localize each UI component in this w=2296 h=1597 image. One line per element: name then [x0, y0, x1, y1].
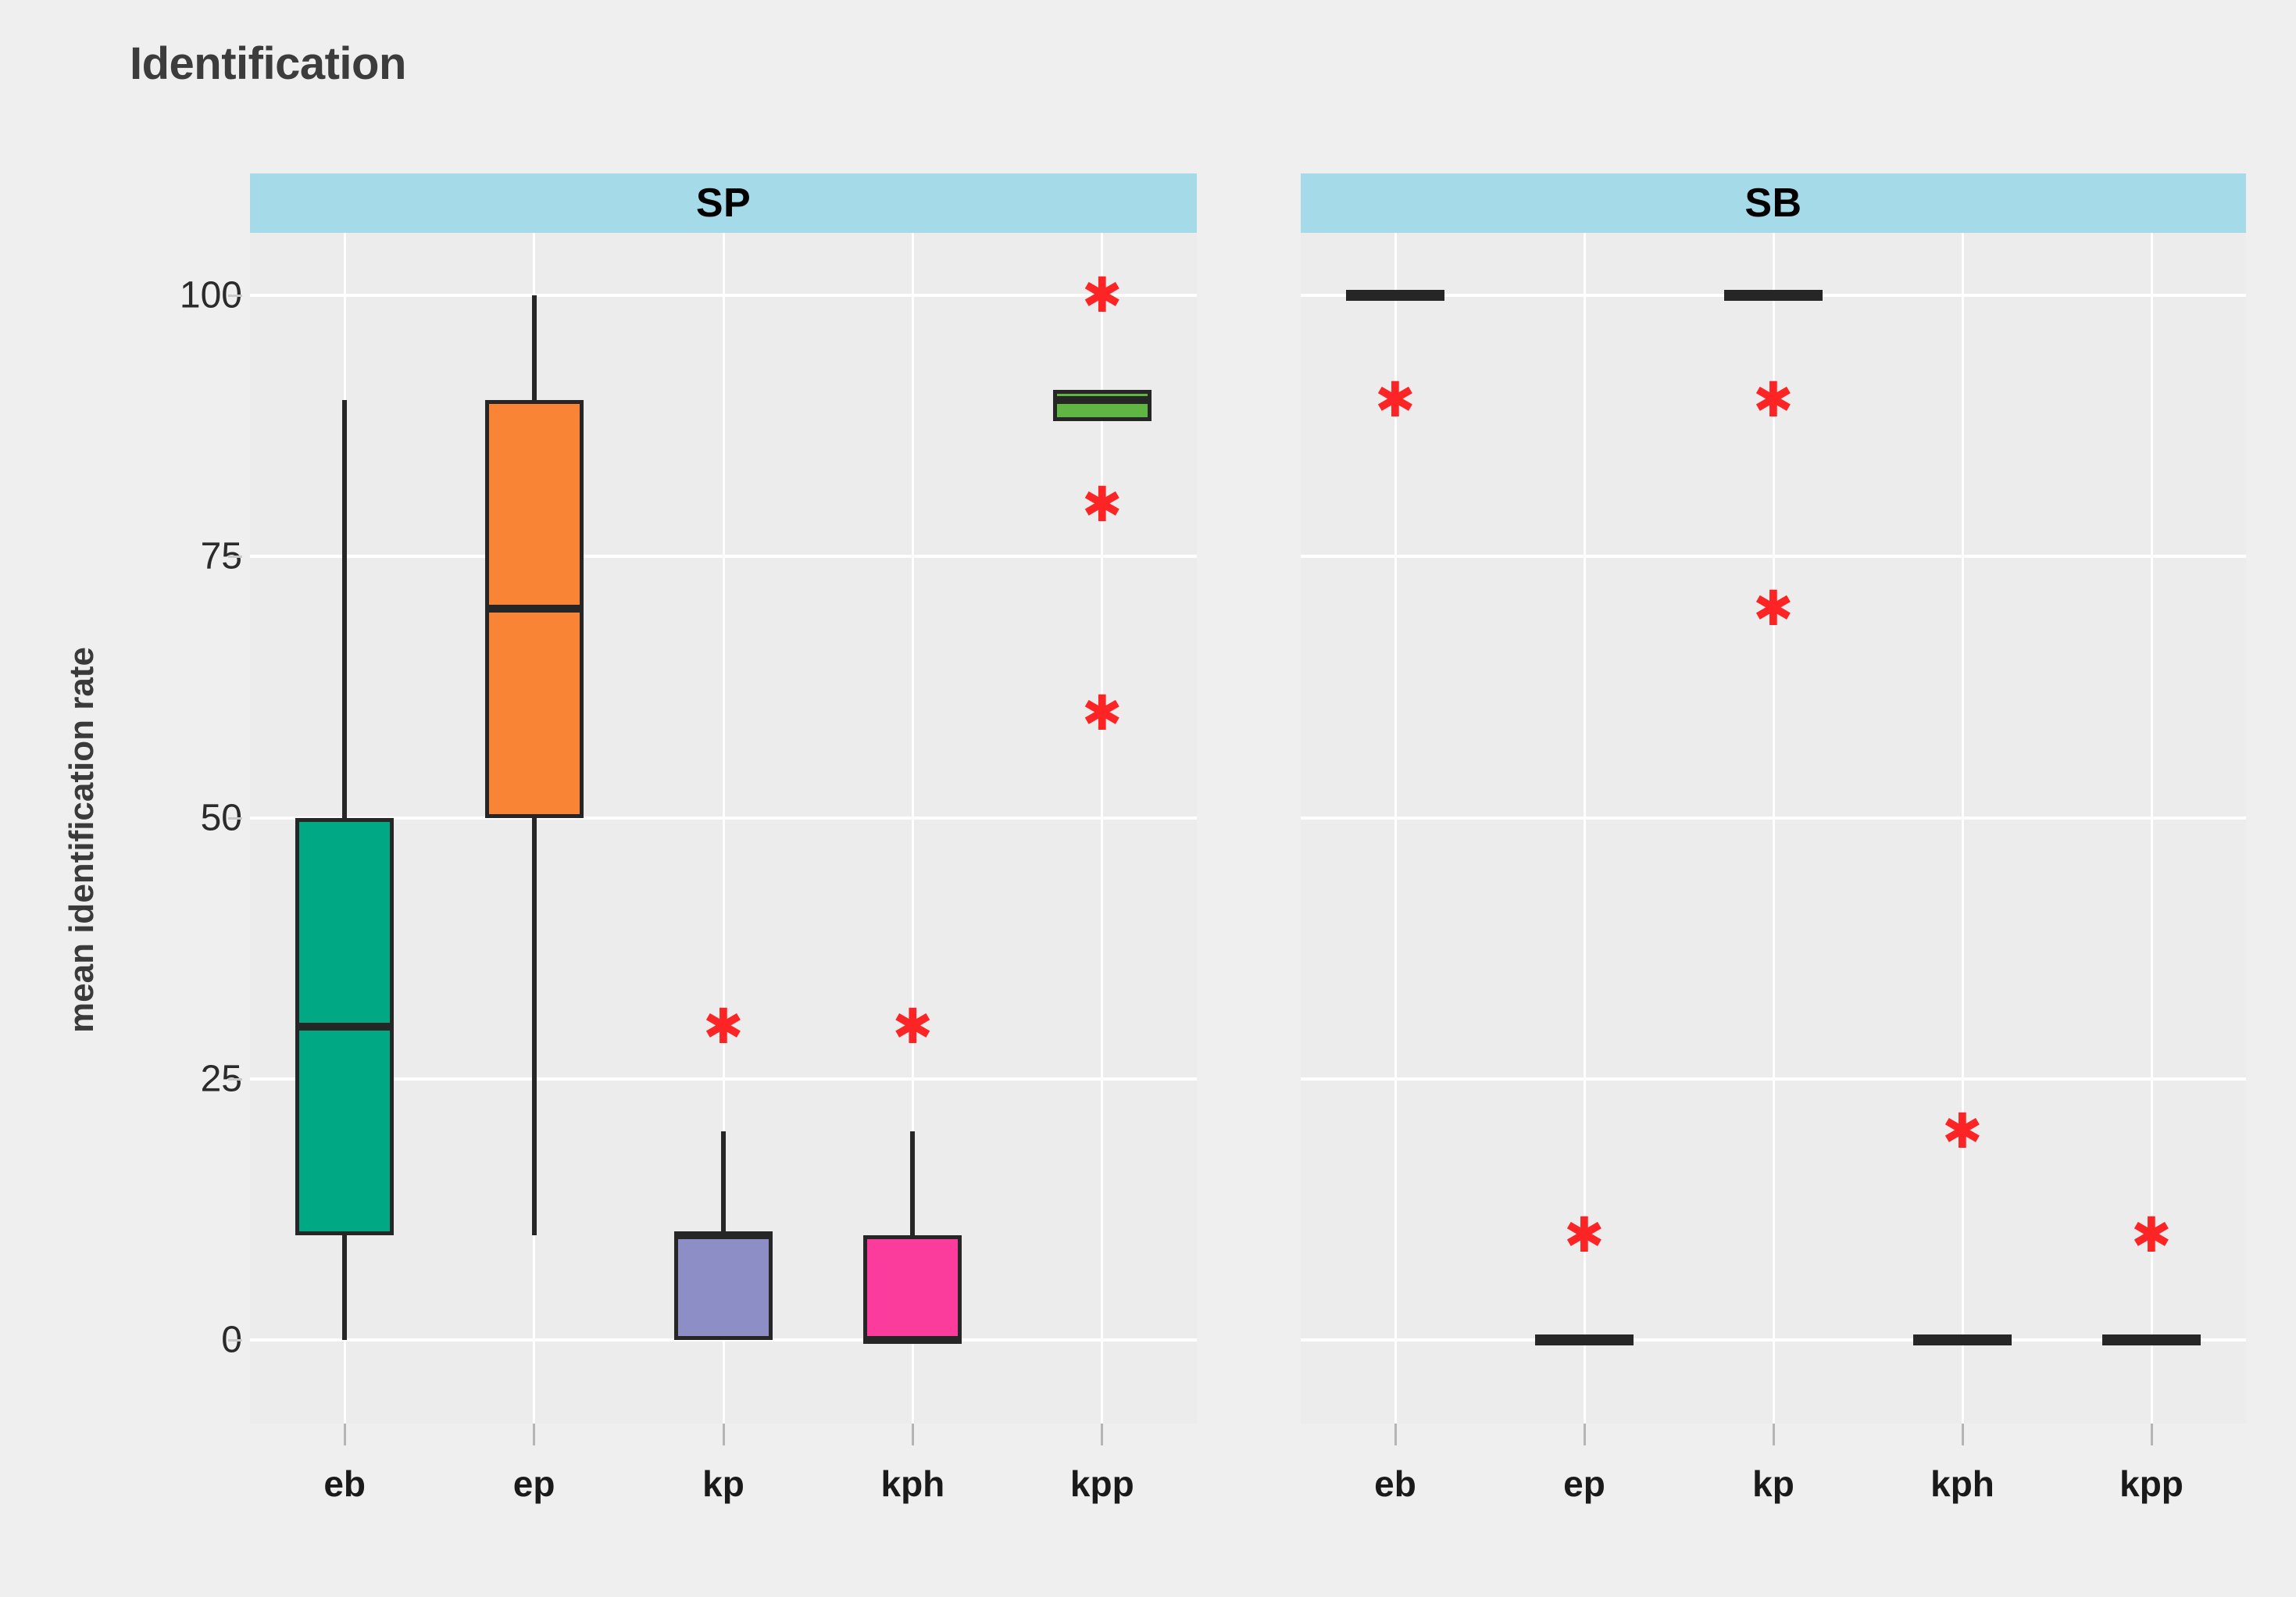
x-tick-label-kpp: kpp	[1070, 1463, 1134, 1505]
y-tick-mark	[228, 1339, 242, 1342]
box-kpp	[1053, 390, 1152, 421]
x-tick-label-kp: kp	[1752, 1463, 1794, 1505]
plot-area-sp: ✱✱✱✱✱	[250, 233, 1197, 1424]
median-line	[295, 1023, 394, 1031]
box-kp	[674, 1235, 773, 1340]
y-tick-mark	[228, 556, 242, 558]
x-tick-mark	[1584, 1424, 1586, 1445]
x-tick-mark	[1773, 1424, 1775, 1445]
facet-panel-sb: SB ✱✱✱✱✱✱ ebepkpkphkpp	[1301, 0, 2246, 1597]
box-ep	[1535, 1334, 1634, 1345]
median-line	[863, 1336, 962, 1344]
whisker-upper	[532, 295, 537, 400]
plot-area-sb: ✱✱✱✱✱✱	[1301, 233, 2246, 1424]
x-tick-label-kph: kph	[1930, 1463, 1994, 1505]
x-tick-mark	[2151, 1424, 2153, 1445]
median-line	[1053, 396, 1152, 404]
x-tick-mark	[344, 1424, 346, 1445]
y-axis-ticks: 0255075100	[125, 0, 242, 1597]
gridline-vertical	[1962, 233, 1964, 1424]
whisker-lower	[342, 1235, 347, 1340]
box-eb	[1346, 290, 1444, 301]
x-tick-mark	[533, 1424, 535, 1445]
x-tick-mark	[912, 1424, 914, 1445]
x-tick-mark	[1101, 1424, 1103, 1445]
x-tick-label-kph: kph	[881, 1463, 945, 1505]
x-tick-mark	[1394, 1424, 1397, 1445]
whisker-upper	[342, 400, 347, 818]
x-tick-mark	[1962, 1424, 1964, 1445]
median-line	[485, 605, 584, 613]
y-axis-title: mean identification rate	[62, 598, 102, 1082]
facet-panel-sp: SP ✱✱✱✱✱ ebepkpkphkpp	[250, 0, 1197, 1597]
x-tick-label-kpp: kpp	[2119, 1463, 2184, 1505]
y-tick-mark	[228, 817, 242, 820]
median-line	[674, 1231, 773, 1239]
x-tick-label-eb: eb	[1374, 1463, 1416, 1505]
y-tick-mark	[228, 295, 242, 297]
whisker-upper	[721, 1131, 726, 1236]
x-tick-label-ep: ep	[513, 1463, 555, 1505]
facet-strip-label: SB	[1744, 180, 1801, 227]
whisker-upper	[910, 1131, 915, 1236]
x-tick-mark	[723, 1424, 725, 1445]
box-kph	[863, 1235, 962, 1340]
x-tick-label-ep: ep	[1563, 1463, 1605, 1505]
facet-strip-label: SP	[696, 180, 751, 227]
facet-strip-sb: SB	[1301, 173, 2246, 233]
facet-strip-sp: SP	[250, 173, 1197, 233]
box-kph	[1913, 1334, 2012, 1345]
chart-figure: Identification mean identification rate …	[0, 0, 2296, 1597]
whisker-lower	[532, 818, 537, 1236]
box-kp	[1724, 290, 1823, 301]
x-tick-label-kp: kp	[702, 1463, 745, 1505]
box-kpp	[2102, 1334, 2201, 1345]
y-tick-mark	[228, 1078, 242, 1081]
x-tick-label-eb: eb	[323, 1463, 366, 1505]
